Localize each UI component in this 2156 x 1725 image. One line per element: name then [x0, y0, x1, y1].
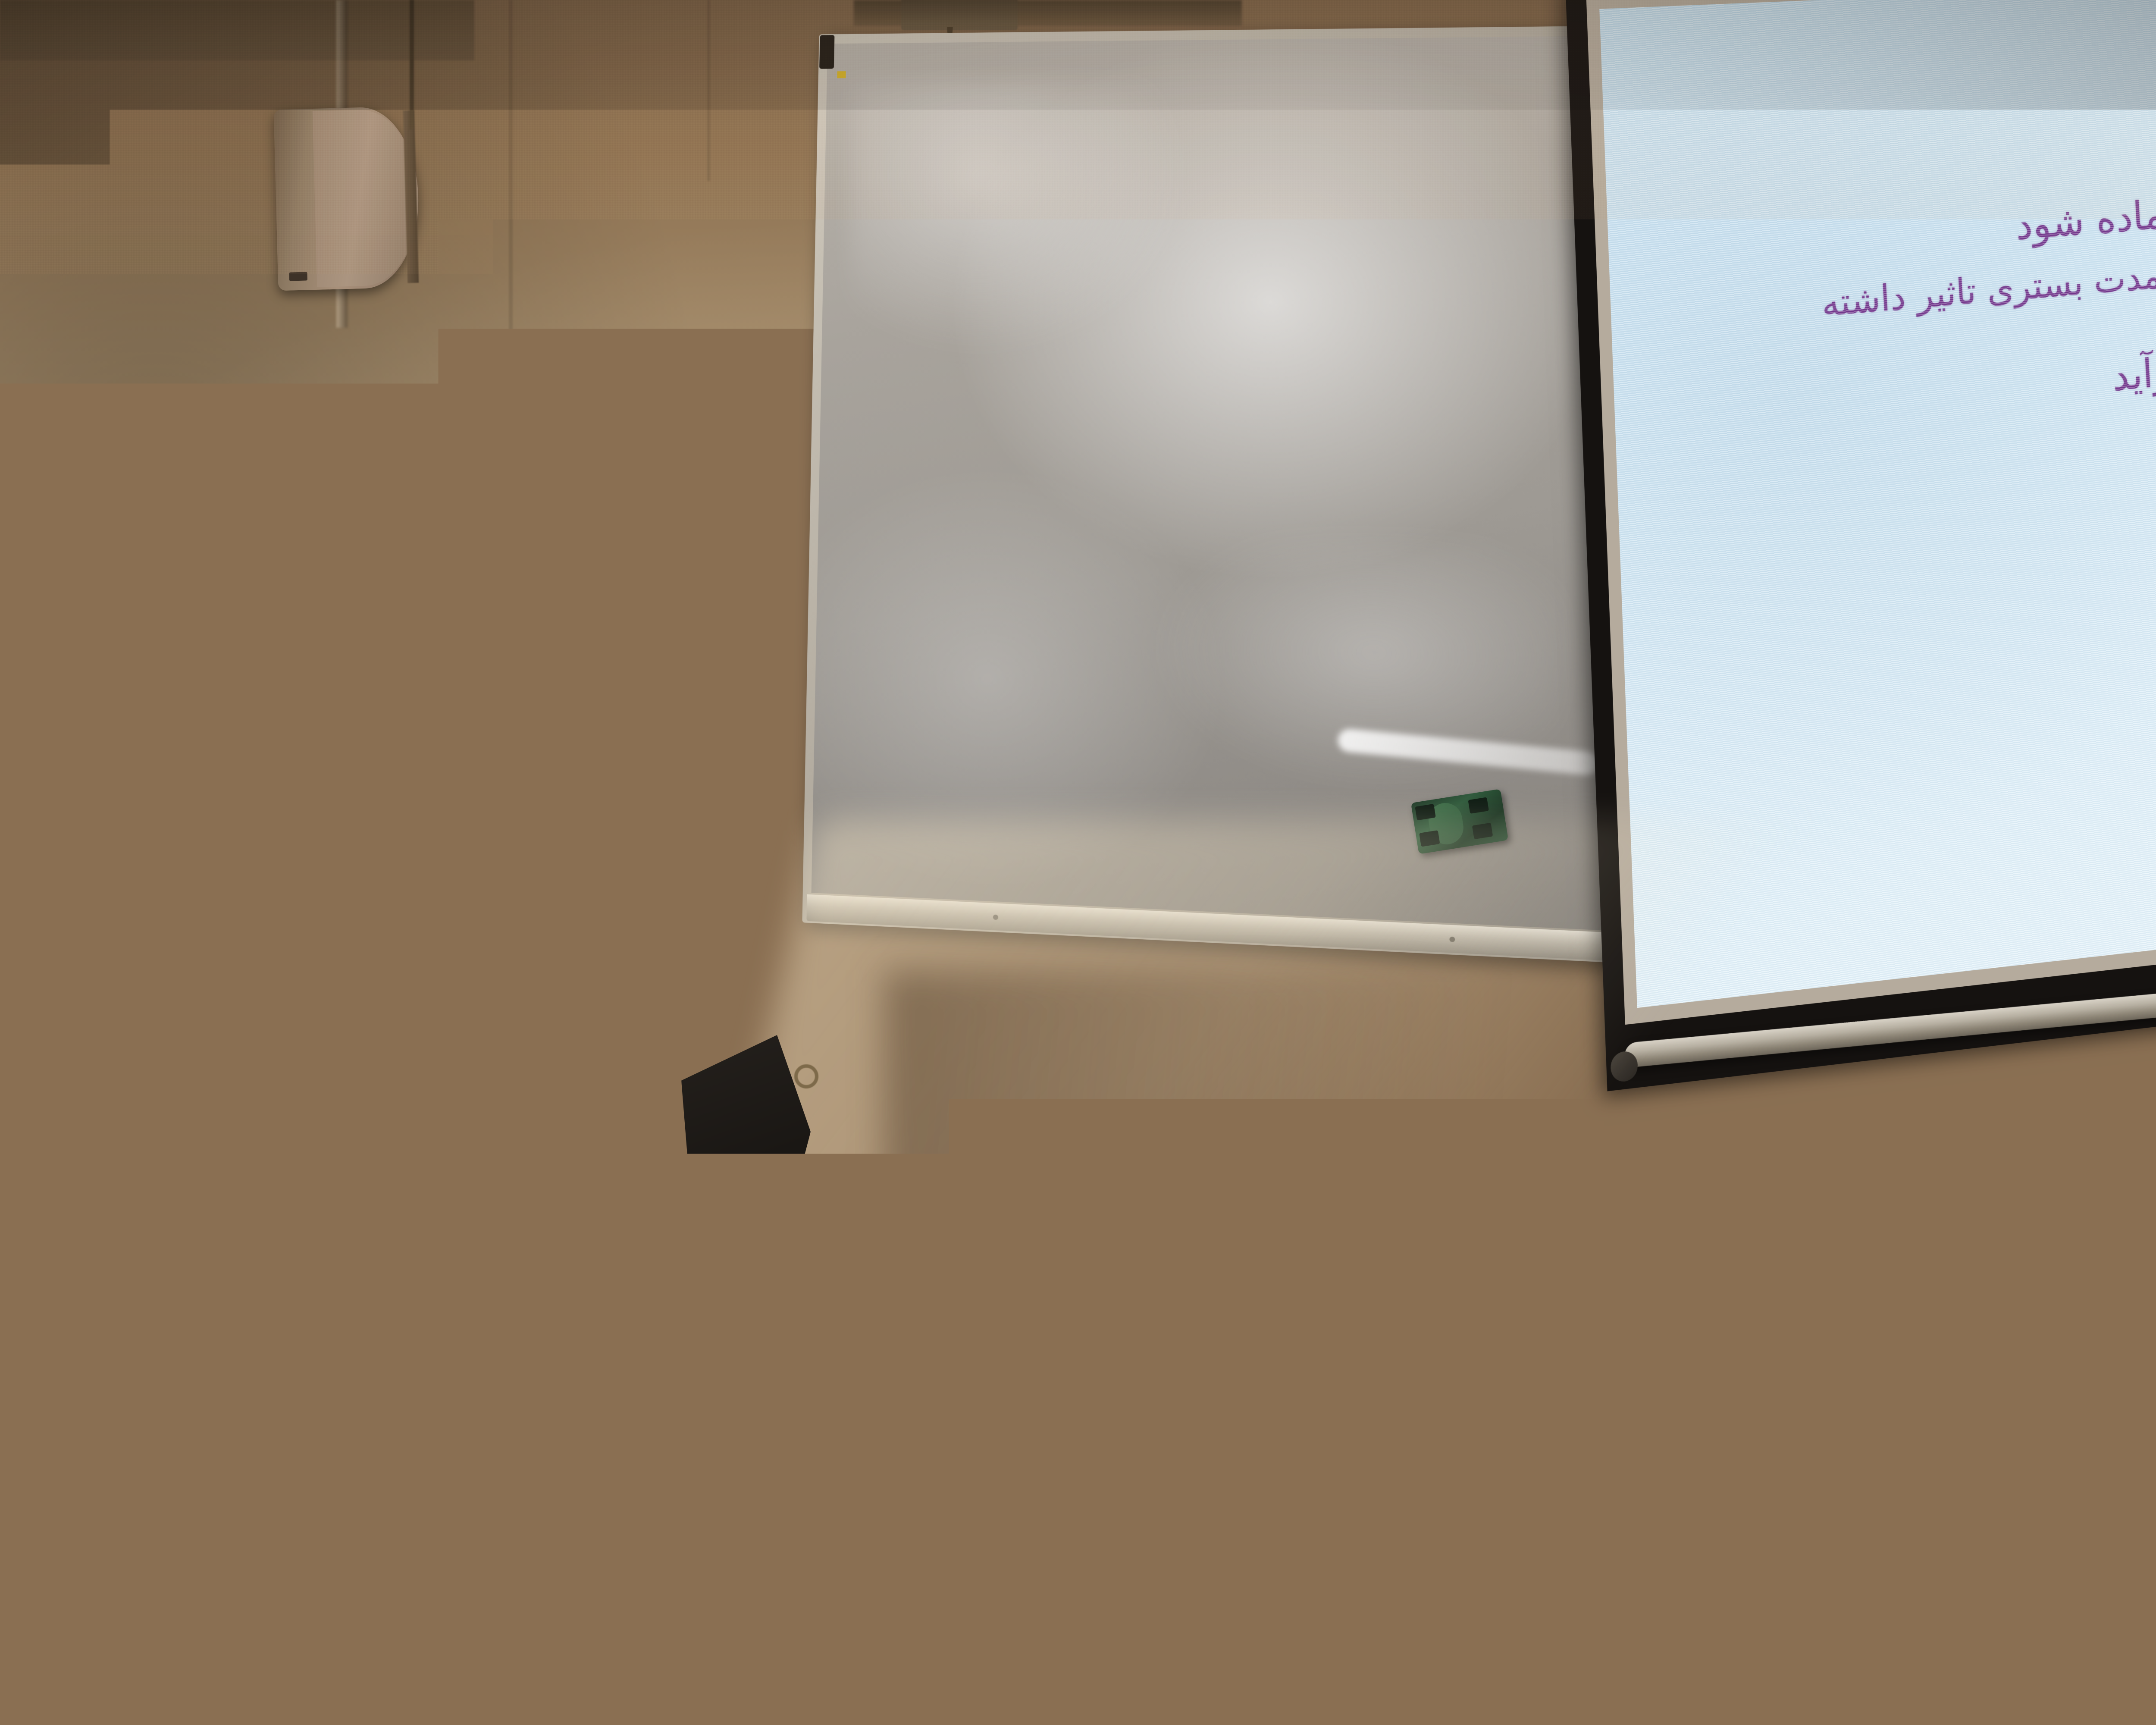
coat-pocket-right	[600, 1037, 762, 1245]
coat-button	[383, 970, 394, 982]
eraser-slot	[1415, 804, 1435, 820]
coat-button	[373, 1324, 384, 1335]
slide-text-block: صرفا در صورتیکه : بیمار باشد بستری است ن…	[1601, 0, 2156, 587]
badge-photo-body	[641, 946, 679, 975]
presenter	[0, 0, 1121, 1725]
lecture-scene: صرفا در صورتیکه : بیمار باشد بستری است ن…	[0, 0, 2156, 1725]
eraser-slot	[1468, 797, 1489, 813]
